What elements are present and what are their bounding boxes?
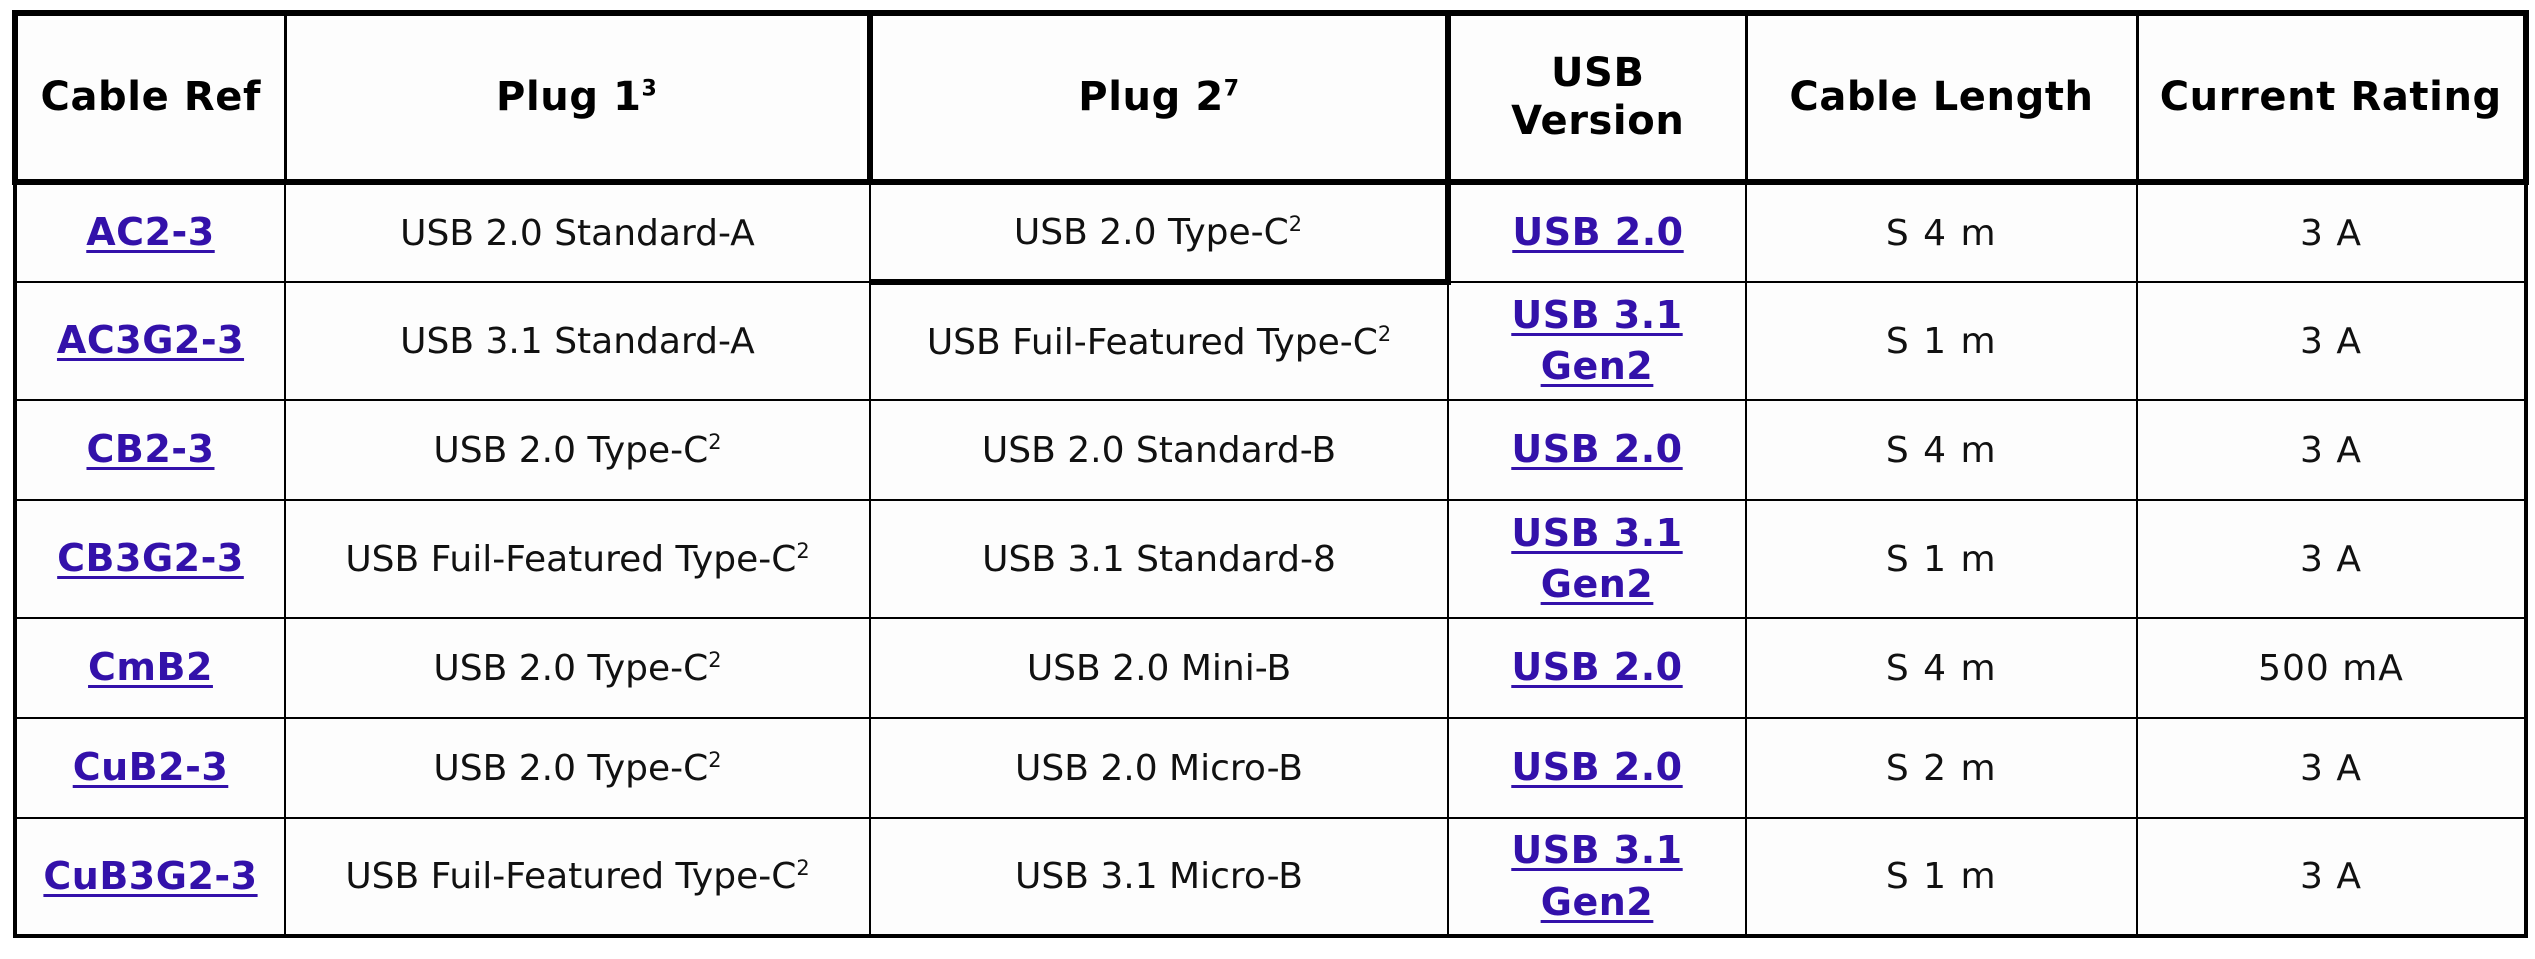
usb-version-line2: Gen2: [1511, 341, 1682, 392]
cell-plug1: USB 2.0 Standard-A: [285, 182, 870, 282]
cable-length-text: S 4 m: [1886, 648, 1997, 689]
table-row: CmB2 USB 2.0 Type-C2 USB 2.0 Mini-B USB …: [15, 618, 2526, 718]
cell-cable-ref: CB3G2-3: [15, 500, 285, 618]
cell-plug1: USB 2.0 Type-C2: [285, 718, 870, 818]
column-header-plug2: Plug 27: [870, 13, 1448, 182]
cell-plug1: USB Fuil-Featured Type-C2: [285, 818, 870, 936]
cell-plug2: USB Fuil-Featured Type-C2: [870, 282, 1448, 400]
cell-plug1: USB 2.0 Type-C2: [285, 400, 870, 500]
column-header-usb-version: USB Version: [1448, 13, 1746, 182]
plug1-footnote-marker: 2: [796, 856, 809, 880]
column-header-plug1-label: Plug 13: [293, 74, 862, 121]
cell-current-rating: 3 A: [2137, 718, 2526, 818]
table-body: AC2-3 USB 2.0 Standard-A USB 2.0 Type-C2…: [15, 182, 2526, 936]
cell-usb-version: USB 3.1Gen2: [1448, 818, 1746, 936]
usb-version-link[interactable]: USB 3.1Gen2: [1511, 508, 1682, 611]
cable-ref-link[interactable]: AC3G2-3: [57, 318, 244, 362]
usb-version-link[interactable]: USB 3.1Gen2: [1511, 825, 1682, 928]
usb-version-line1: USB 2.0: [1511, 424, 1682, 475]
cell-usb-version: USB 2.0: [1448, 718, 1746, 818]
current-rating-text: 3 A: [2300, 539, 2362, 580]
usb-version-link[interactable]: USB 2.0: [1512, 207, 1683, 258]
column-header-cable-length: Cable Length: [1746, 13, 2137, 182]
cell-usb-version: USB 3.1Gen2: [1448, 500, 1746, 618]
plug2-text: USB 3.1 Standard-8: [982, 539, 1336, 580]
cell-current-rating: 500 mA: [2137, 618, 2526, 718]
usb-version-link[interactable]: USB 2.0: [1511, 424, 1682, 475]
usb-version-line1: USB 3.1: [1511, 825, 1682, 876]
usb-version-line1: USB 2.0: [1511, 742, 1682, 793]
plug1-text: USB Fuil-Featured Type-C: [345, 539, 796, 580]
plug2-text: USB 2.0 Mini-B: [1027, 648, 1291, 689]
plug2-text: USB 2.0 Micro-B: [1015, 748, 1303, 789]
current-rating-text: 3 A: [2300, 321, 2362, 362]
table-row: AC3G2-3 USB 3.1 Standard-A USB Fuil-Feat…: [15, 282, 2526, 400]
plug1-text: USB Fuil-Featured Type-C: [345, 856, 796, 897]
cell-plug1: USB 3.1 Standard-A: [285, 282, 870, 400]
cell-plug2: USB 2.0 Type-C2: [870, 182, 1448, 282]
plug2-footnote-marker: 2: [1289, 212, 1302, 236]
plug2-text: USB 2.0 Type-C: [1014, 212, 1289, 253]
usb-version-link[interactable]: USB 2.0: [1511, 742, 1682, 793]
usb-version-link[interactable]: USB 3.1Gen2: [1511, 290, 1682, 393]
cell-plug1: USB Fuil-Featured Type-C2: [285, 500, 870, 618]
column-header-plug2-label: Plug 27: [879, 74, 1439, 121]
cell-plug1: USB 2.0 Type-C2: [285, 618, 870, 718]
cell-current-rating: 3 A: [2137, 282, 2526, 400]
cell-usb-version: USB 2.0: [1448, 400, 1746, 500]
usb-version-line1: USB 3.1: [1511, 508, 1682, 559]
cell-cable-length: S 4 m: [1746, 618, 2137, 718]
cable-ref-link[interactable]: CmB2: [88, 645, 213, 689]
cell-cable-length: S 4 m: [1746, 182, 2137, 282]
cell-cable-length: S 1 m: [1746, 500, 2137, 618]
cable-reference-table: Cable Ref Plug 13 Plug 27 USB Version Ca…: [12, 10, 2529, 938]
current-rating-text: 500 mA: [2258, 648, 2404, 689]
plug1-footnote-marker: 2: [796, 539, 809, 563]
cell-cable-ref: CuB3G2-3: [15, 818, 285, 936]
plug1-footnote-marker: 2: [708, 648, 721, 672]
cable-length-text: S 1 m: [1886, 856, 1997, 897]
current-rating-text: 3 A: [2300, 213, 2362, 254]
plug1-footnote-marker: 2: [708, 430, 721, 454]
plug1-text: USB 2.0 Type-C: [433, 430, 708, 471]
plug1-text: USB 3.1 Standard-A: [400, 321, 755, 362]
usb-version-line1: USB 2.0: [1511, 642, 1682, 693]
cable-ref-link[interactable]: CuB3G2-3: [43, 854, 257, 898]
cell-usb-version: USB 3.1Gen2: [1448, 282, 1746, 400]
cell-plug2: USB 3.1 Standard-8: [870, 500, 1448, 618]
cell-cable-ref: AC3G2-3: [15, 282, 285, 400]
plug2-text: USB 3.1 Micro-B: [1015, 856, 1303, 897]
table-row: CuB2-3 USB 2.0 Type-C2 USB 2.0 Micro-B U…: [15, 718, 2526, 818]
cable-length-text: S 4 m: [1886, 430, 1997, 471]
cell-current-rating: 3 A: [2137, 400, 2526, 500]
plug2-footnote-marker: 2: [1378, 322, 1391, 346]
cell-cable-length: S 1 m: [1746, 818, 2137, 936]
cell-cable-length: S 4 m: [1746, 400, 2137, 500]
cable-length-text: S 4 m: [1886, 213, 1997, 254]
cable-length-text: S 1 m: [1886, 321, 1997, 362]
table-header: Cable Ref Plug 13 Plug 27 USB Version Ca…: [15, 13, 2526, 182]
current-rating-text: 3 A: [2300, 748, 2362, 789]
cell-plug2: USB 2.0 Micro-B: [870, 718, 1448, 818]
cable-length-text: S 1 m: [1886, 539, 1997, 580]
column-header-usb-version-line2: Version: [1457, 98, 1739, 145]
current-rating-text: 3 A: [2300, 856, 2362, 897]
column-header-cable-ref-label: Cable Ref: [24, 74, 278, 121]
cell-usb-version: USB 2.0: [1448, 618, 1746, 718]
plug2-text: USB Fuil-Featured Type-C: [927, 322, 1378, 363]
cable-ref-link[interactable]: CB2-3: [86, 427, 214, 471]
cell-plug2: USB 3.1 Micro-B: [870, 818, 1448, 936]
table-row: CB2-3 USB 2.0 Type-C2 USB 2.0 Standard-B…: [15, 400, 2526, 500]
column-header-current-rating-label: Current Rating: [2145, 74, 2518, 121]
cable-reference-table-container: Cable Ref Plug 13 Plug 27 USB Version Ca…: [0, 0, 2535, 959]
cable-ref-link[interactable]: CB3G2-3: [57, 536, 244, 580]
cell-cable-length: S 2 m: [1746, 718, 2137, 818]
column-header-cable-length-label: Cable Length: [1754, 74, 2130, 121]
usb-version-line1: USB 2.0: [1512, 207, 1683, 258]
plug2-footnote-marker: 7: [1224, 77, 1240, 102]
current-rating-text: 3 A: [2300, 430, 2362, 471]
cell-cable-ref: AC2-3: [15, 182, 285, 282]
cell-cable-length: S 1 m: [1746, 282, 2137, 400]
usb-version-line2: Gen2: [1511, 877, 1682, 928]
column-header-cable-ref: Cable Ref: [15, 13, 285, 182]
cell-cable-ref: CmB2: [15, 618, 285, 718]
column-header-plug1: Plug 13: [285, 13, 870, 182]
plug2-text: USB 2.0 Standard-B: [982, 430, 1336, 471]
plug1-footnote-marker: 2: [708, 748, 721, 772]
cell-current-rating: 3 A: [2137, 500, 2526, 618]
cell-cable-ref: CuB2-3: [15, 718, 285, 818]
usb-version-line2: Gen2: [1511, 559, 1682, 610]
table-row: CB3G2-3 USB Fuil-Featured Type-C2 USB 3.…: [15, 500, 2526, 618]
plug1-text: USB 2.0 Standard-A: [400, 213, 755, 254]
cell-plug2: USB 2.0 Mini-B: [870, 618, 1448, 718]
usb-version-link[interactable]: USB 2.0: [1511, 642, 1682, 693]
cable-ref-link[interactable]: CuB2-3: [73, 745, 229, 789]
cell-usb-version: USB 2.0: [1448, 182, 1746, 282]
column-header-usb-version-line1: USB: [1457, 50, 1739, 97]
plug1-text: USB 2.0 Type-C: [433, 648, 708, 689]
cell-current-rating: 3 A: [2137, 818, 2526, 936]
cell-plug2: USB 2.0 Standard-B: [870, 400, 1448, 500]
table-row: AC2-3 USB 2.0 Standard-A USB 2.0 Type-C2…: [15, 182, 2526, 282]
header-row: Cable Ref Plug 13 Plug 27 USB Version Ca…: [15, 13, 2526, 182]
cell-cable-ref: CB2-3: [15, 400, 285, 500]
column-header-current-rating: Current Rating: [2137, 13, 2526, 182]
plug1-footnote-marker: 3: [642, 77, 658, 102]
cell-current-rating: 3 A: [2137, 182, 2526, 282]
cable-ref-link[interactable]: AC2-3: [86, 210, 214, 254]
usb-version-line1: USB 3.1: [1511, 290, 1682, 341]
plug1-text: USB 2.0 Type-C: [433, 748, 708, 789]
table-row: CuB3G2-3 USB Fuil-Featured Type-C2 USB 3…: [15, 818, 2526, 936]
cable-length-text: S 2 m: [1886, 748, 1997, 789]
